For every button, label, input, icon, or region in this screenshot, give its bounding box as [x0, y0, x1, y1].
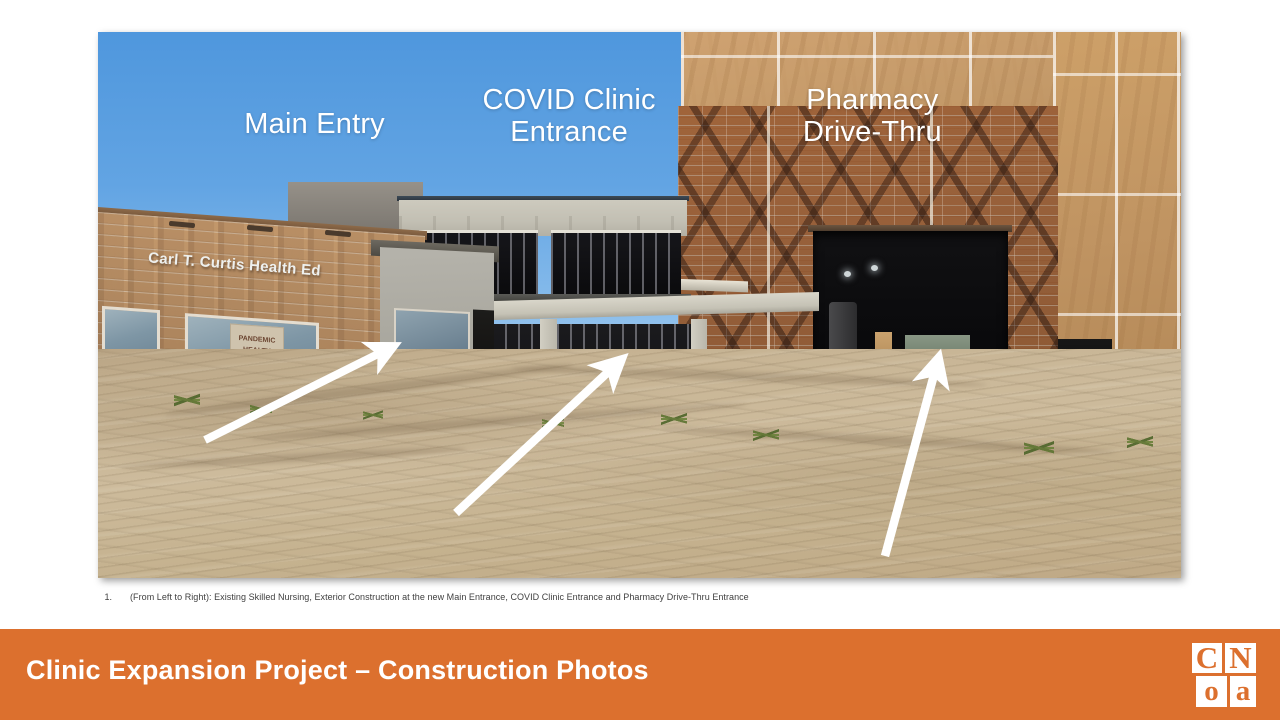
weeds	[363, 406, 383, 424]
weeds	[174, 387, 200, 413]
caption-text: (From Left to Right): Existing Skilled N…	[130, 592, 1098, 602]
caption-number: 1.	[98, 592, 112, 602]
label-text: Main Entry	[244, 108, 385, 140]
photo-label-pharmacy-drive-thru: Pharmacy Drive-Thru	[742, 84, 1002, 149]
weeds	[1127, 431, 1153, 453]
organization-logo[interactable]: C N o a	[1192, 643, 1256, 707]
label-text-line2: Entrance	[439, 116, 699, 148]
work-light-icon	[844, 271, 851, 277]
label-text-line1: Pharmacy	[742, 84, 1002, 116]
label-text-line1: COVID Clinic	[439, 84, 699, 116]
photo-canvas: Carl T. Curtis Health Ed PANDEMIC HEALTH…	[98, 32, 1181, 578]
label-text-line2: Drive-Thru	[742, 116, 1002, 148]
logo-grid: C N o a	[1192, 643, 1256, 707]
weeds	[542, 414, 564, 432]
construction-photo[interactable]: Carl T. Curtis Health Ed PANDEMIC HEALTH…	[98, 32, 1181, 578]
photo-label-covid-clinic-entrance: COVID Clinic Entrance	[439, 84, 699, 149]
upper-opening-right	[551, 230, 681, 299]
weeds	[1024, 436, 1054, 460]
footer-bar: Clinic Expansion Project – Construction …	[0, 629, 1280, 720]
logo-letter-n: N	[1225, 643, 1256, 673]
weeds	[753, 425, 779, 445]
work-light-icon	[871, 265, 878, 271]
logo-letter-c: C	[1192, 643, 1222, 673]
photo-label-main-entry: Main Entry	[206, 108, 423, 140]
weeds	[661, 409, 687, 429]
logo-letter-o: o	[1196, 676, 1227, 707]
slide: Carl T. Curtis Health Ed PANDEMIC HEALTH…	[0, 0, 1280, 720]
logo-letter-a: a	[1230, 676, 1256, 707]
photo-caption: 1. (From Left to Right): Existing Skille…	[98, 592, 1098, 602]
dirt-ground	[98, 349, 1181, 578]
weeds	[250, 398, 272, 420]
slide-title: Clinic Expansion Project – Construction …	[26, 655, 649, 686]
